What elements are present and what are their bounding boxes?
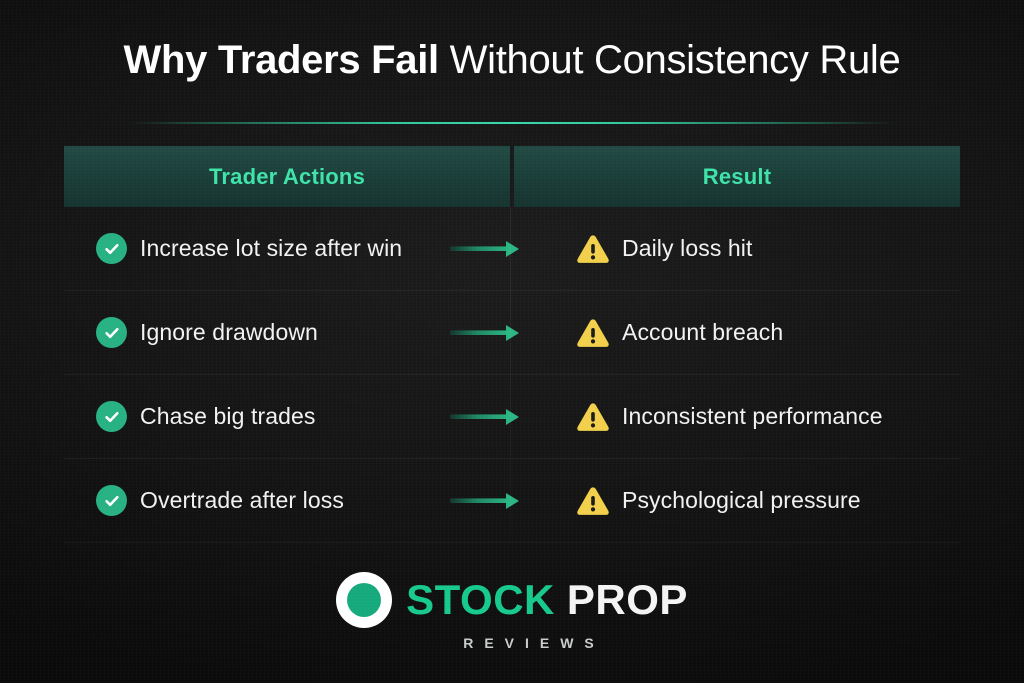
action-label: Increase lot size after win [140,235,402,262]
check-circle-icon [96,485,127,516]
title-bold-segment: Why Traders Fail [124,38,439,82]
arrow-right-icon [450,406,522,428]
circle-ring-icon [336,572,392,628]
table-cell-action: Overtrade after loss [64,485,510,516]
circle-ring-inner [347,583,381,617]
logo-word-primary: STOCK [406,576,555,623]
table-cell-action: Increase lot size after win [64,233,510,264]
comparison-table: Trader Actions Result Increase lot size … [64,146,960,543]
page-title: Why Traders Fail Without Consistency Rul… [0,38,1024,82]
warning-triangle-icon [576,317,610,349]
check-circle-icon [96,317,127,348]
action-label: Overtrade after loss [140,487,344,514]
result-label: Inconsistent performance [622,403,883,430]
table-cell-action: Ignore drawdown [64,317,510,348]
table-row: Overtrade after loss P [64,459,960,543]
brand-logo: STOCKPROP REVIEWS [0,572,1024,651]
table-cell-result: Psychological pressure [510,485,960,517]
arrow-right-icon [450,238,522,260]
logo-word-secondary: PROP [567,576,688,623]
infographic-canvas: Why Traders Fail Without Consistency Rul… [0,0,1024,683]
table-row: Chase big trades Incon [64,375,960,459]
column-header-result-label: Result [703,164,771,190]
action-label: Chase big trades [140,403,315,430]
table-row: Ignore drawdown Accoun [64,291,960,375]
table-body: Increase lot size after win [64,207,960,543]
table-header-row: Trader Actions Result [64,146,960,207]
result-label: Account breach [622,319,783,346]
title-light-segment: Without Consistency Rule [439,38,901,82]
logo-tagline: REVIEWS [463,635,605,651]
result-label: Psychological pressure [622,487,861,514]
column-header-trader-actions-label: Trader Actions [209,164,365,190]
warning-triangle-icon [576,233,610,265]
check-circle-icon [96,401,127,432]
column-header-result: Result [514,146,960,207]
table-cell-action: Chase big trades [64,401,510,432]
table-cell-result: Account breach [510,317,960,349]
column-divider [510,207,511,543]
arrow-right-icon [450,490,522,512]
result-label: Daily loss hit [622,235,753,262]
action-label: Ignore drawdown [140,319,318,346]
title-divider [128,122,896,124]
logo-row: STOCKPROP [336,572,688,628]
check-circle-icon [96,233,127,264]
warning-triangle-icon [576,401,610,433]
table-cell-result: Daily loss hit [510,233,960,265]
warning-triangle-icon [576,485,610,517]
table-cell-result: Inconsistent performance [510,401,960,433]
table-row: Increase lot size after win [64,207,960,291]
column-header-trader-actions: Trader Actions [64,146,510,207]
arrow-right-icon [450,322,522,344]
